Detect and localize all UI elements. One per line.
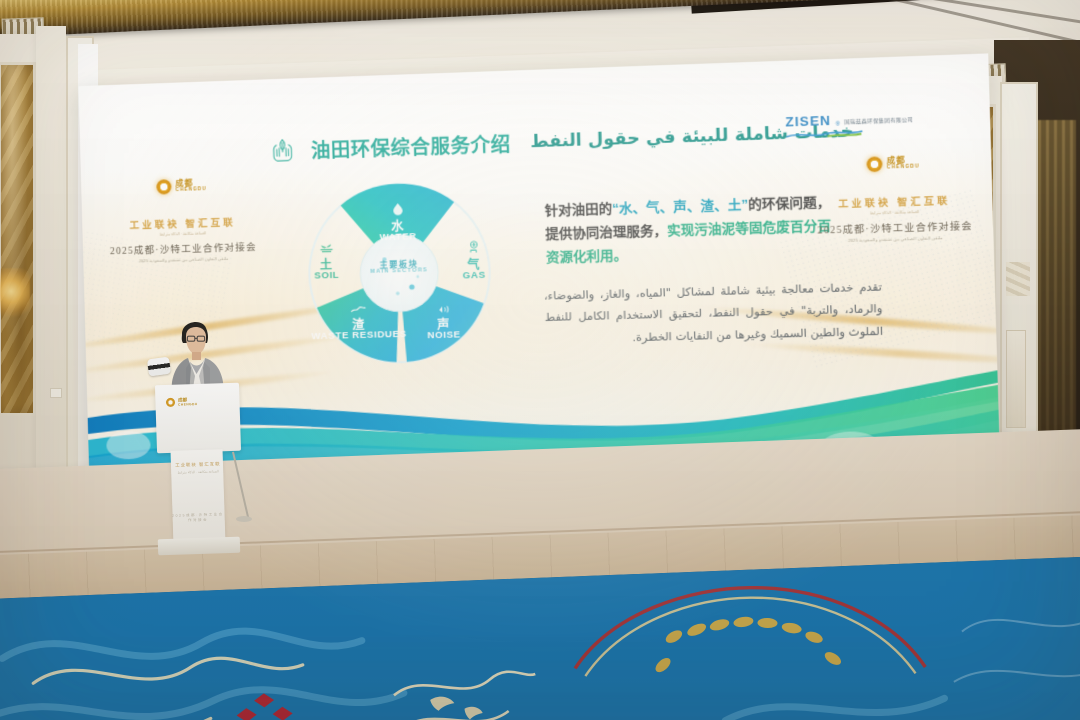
podium-event-title: 2025成都·沙特工业合作对接会 — [172, 511, 224, 523]
wall-sconce-light-icon — [0, 268, 30, 320]
chengdu-logo-en: CHENGDU — [887, 165, 920, 171]
chengdu-logo-en: CHENGDU — [176, 187, 207, 193]
speaker-figure-icon — [158, 312, 236, 394]
body-cn-line3-highlight: 资源化利用。 — [546, 247, 627, 265]
zisen-registered-mark: ® — [835, 122, 840, 128]
hands-holding-leaf-icon — [267, 135, 298, 166]
body-cn-line2-highlight: 实现污油泥等固危废百分百 — [667, 217, 832, 237]
left-switch-plate — [50, 388, 62, 398]
zisen-wordmark: ZISEN — [785, 113, 831, 130]
podium-base — [158, 537, 240, 556]
podium-banner-text: 工业联袂 智汇互联 الصناعة متكاتفة · الذكاء متراب… — [172, 461, 224, 475]
zisen-company-cn: 国瑞兹森环保集团有限公司 — [844, 116, 913, 126]
slide-body-ar: تقدم خدمات معالجة بيئية شاملة لمشاكل "ال… — [544, 276, 884, 351]
body-cn-line2a: 提供协同治理服务， — [545, 222, 667, 241]
conference-photo: 油田环保综合服务介绍 خدمات شاملة للبيئة في حقول ال… — [0, 0, 1080, 720]
chengdu-logo: 成都 CHENGDU — [810, 153, 976, 174]
chengdu-sun-bird-icon — [156, 179, 171, 195]
gold-marble-pilaster-panel-icon — [0, 62, 36, 416]
podium-top — [155, 383, 241, 454]
body-cn-line1a: 针对油田的 — [545, 201, 613, 218]
right-door-hardware — [1006, 262, 1030, 296]
left-pilaster-outer — [36, 26, 66, 480]
donut-svg — [294, 169, 504, 377]
podium-logo-en: CHENGDU — [178, 402, 198, 407]
right-wing-event-logo: 成都 CHENGDU 工业联袂 智汇互联 الصناعة متكاتفة · ا… — [810, 153, 978, 244]
right-door-panel — [1006, 330, 1026, 428]
ballroom-background: 油田环保综合服务介绍 خدمات شاملة للبيئة في حقول ال… — [0, 0, 1080, 720]
main-sectors-donut-chart: 主要板块 MAIN SECTORS 水 WATER — [294, 169, 504, 377]
zisen-brand-logo: ZISEN ® 国瑞兹森环保集团有限公司 — [785, 110, 914, 140]
microphone-icon — [147, 357, 171, 377]
podium-slogan-cn: 工业联袂 智汇互联 — [172, 461, 224, 469]
slide-title-cn: 油田环保综合服务介绍 — [311, 129, 512, 163]
chengdu-logo: 成都 CHENGDU — [103, 176, 260, 196]
mic-stand-base — [236, 516, 252, 522]
speaker-person — [158, 312, 236, 394]
chengdu-sun-bird-icon — [166, 398, 175, 407]
chengdu-sun-bird-icon — [866, 156, 882, 172]
left-wing-event-logo: 成都 CHENGDU 工业联袂 智汇互联 الصناعة متكاتفة · ا… — [103, 176, 262, 264]
body-cn-line1-highlight: “水、气、声、渣、土” — [612, 197, 748, 216]
